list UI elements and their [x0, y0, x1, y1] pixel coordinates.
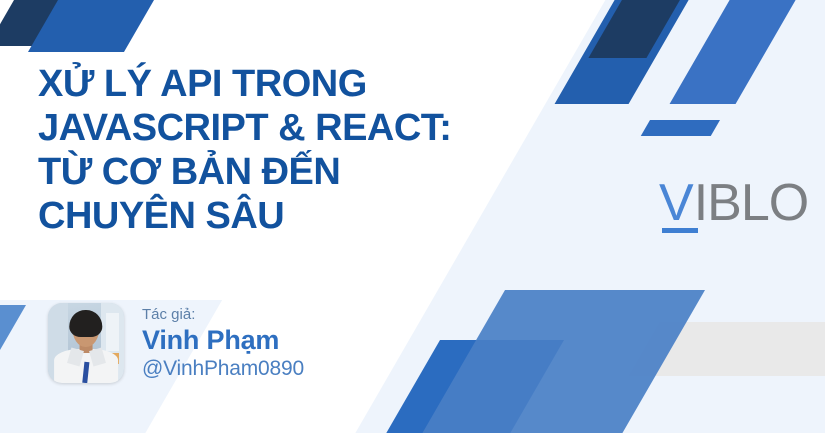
avatar-bg-panel	[106, 313, 120, 351]
avatar	[48, 303, 124, 383]
banner-title: XỬ LÝ API TRONG JAVASCRIPT & REACT: TỪ C…	[38, 62, 598, 238]
author-text-group: Tác giả: Vinh Phạm @VinhPham0890	[142, 305, 304, 381]
logo-ribbon-blue-sliver	[641, 120, 720, 136]
viblo-logo-underline	[662, 228, 698, 233]
viblo-logo-wordmark: IBLO	[694, 178, 809, 228]
viblo-logo-mark: V	[659, 178, 693, 228]
viblo-logo-mark-wrap: V	[659, 178, 693, 228]
viblo-logo: V IBLO	[659, 178, 808, 228]
author-handle: @VinhPham0890	[142, 356, 304, 381]
author-name: Vinh Phạm	[142, 325, 304, 356]
avatar-hair	[69, 310, 102, 336]
author-block: Tác giả: Vinh Phạm @VinhPham0890	[48, 303, 304, 383]
author-role-label: Tác giả:	[142, 305, 304, 324]
banner-canvas: XỬ LÝ API TRONG JAVASCRIPT & REACT: TỪ C…	[0, 0, 825, 433]
